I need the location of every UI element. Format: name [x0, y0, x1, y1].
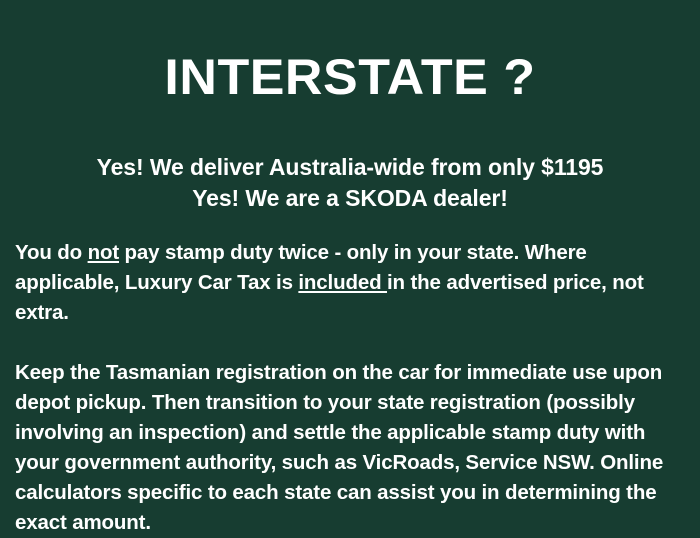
stamp-duty-emphasis-included: included	[298, 271, 387, 294]
subheading-delivery: Yes! We deliver Australia-wide from only…	[0, 152, 700, 183]
stamp-duty-text-part-1: You do	[15, 241, 88, 264]
interstate-delivery-banner: INTERSTATE ? Yes! We deliver Australia-w…	[0, 34, 700, 529]
paragraph-registration: Keep the Tasmanian registration on the c…	[15, 358, 685, 538]
stamp-duty-emphasis-not: not	[88, 241, 119, 264]
paragraph-stamp-duty: You do not pay stamp duty twice - only i…	[15, 238, 685, 328]
page-title: INTERSTATE ?	[0, 34, 700, 102]
subheading-group: Yes! We deliver Australia-wide from only…	[0, 135, 700, 214]
body-copy: You do not pay stamp duty twice - only i…	[0, 238, 700, 538]
subheading-dealer: Yes! We are a SKODA dealer!	[0, 183, 700, 214]
